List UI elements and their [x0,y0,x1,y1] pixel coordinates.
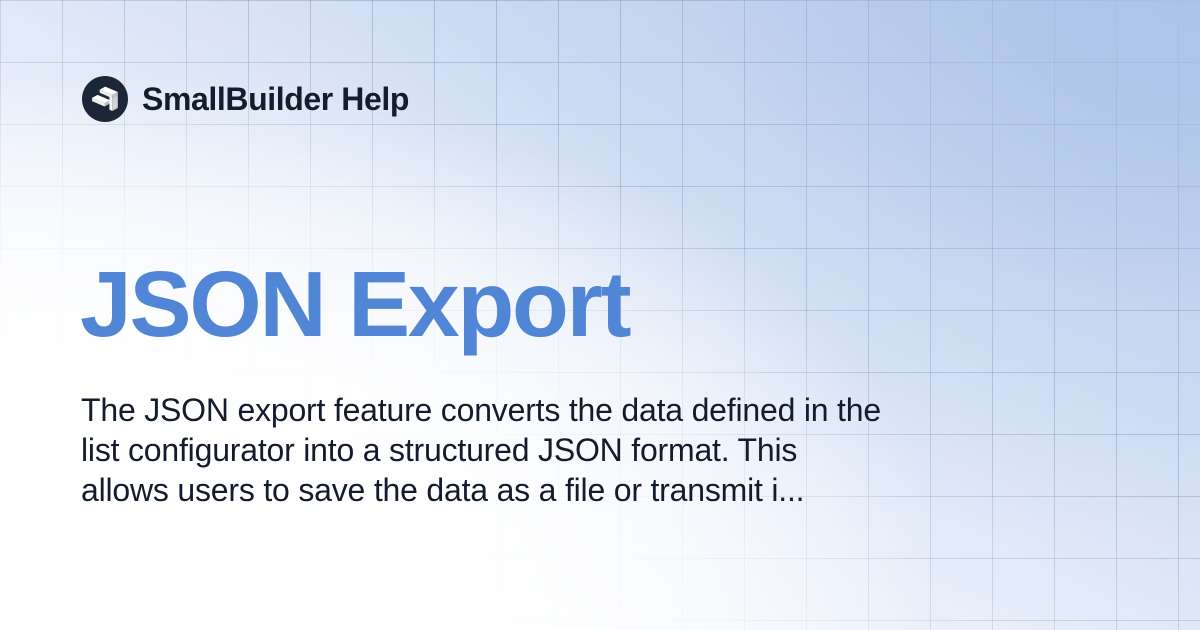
isometric-stairs-logo-icon [82,76,128,122]
page-title: JSON Export [80,258,629,351]
og-card: SmallBuilder Help JSON Export The JSON e… [0,0,1200,630]
page-description: The JSON export feature converts the dat… [81,390,881,510]
brand-name: SmallBuilder Help [142,83,409,115]
brand-lockup[interactable]: SmallBuilder Help [82,76,409,122]
card-content: SmallBuilder Help JSON Export The JSON e… [0,0,1200,630]
